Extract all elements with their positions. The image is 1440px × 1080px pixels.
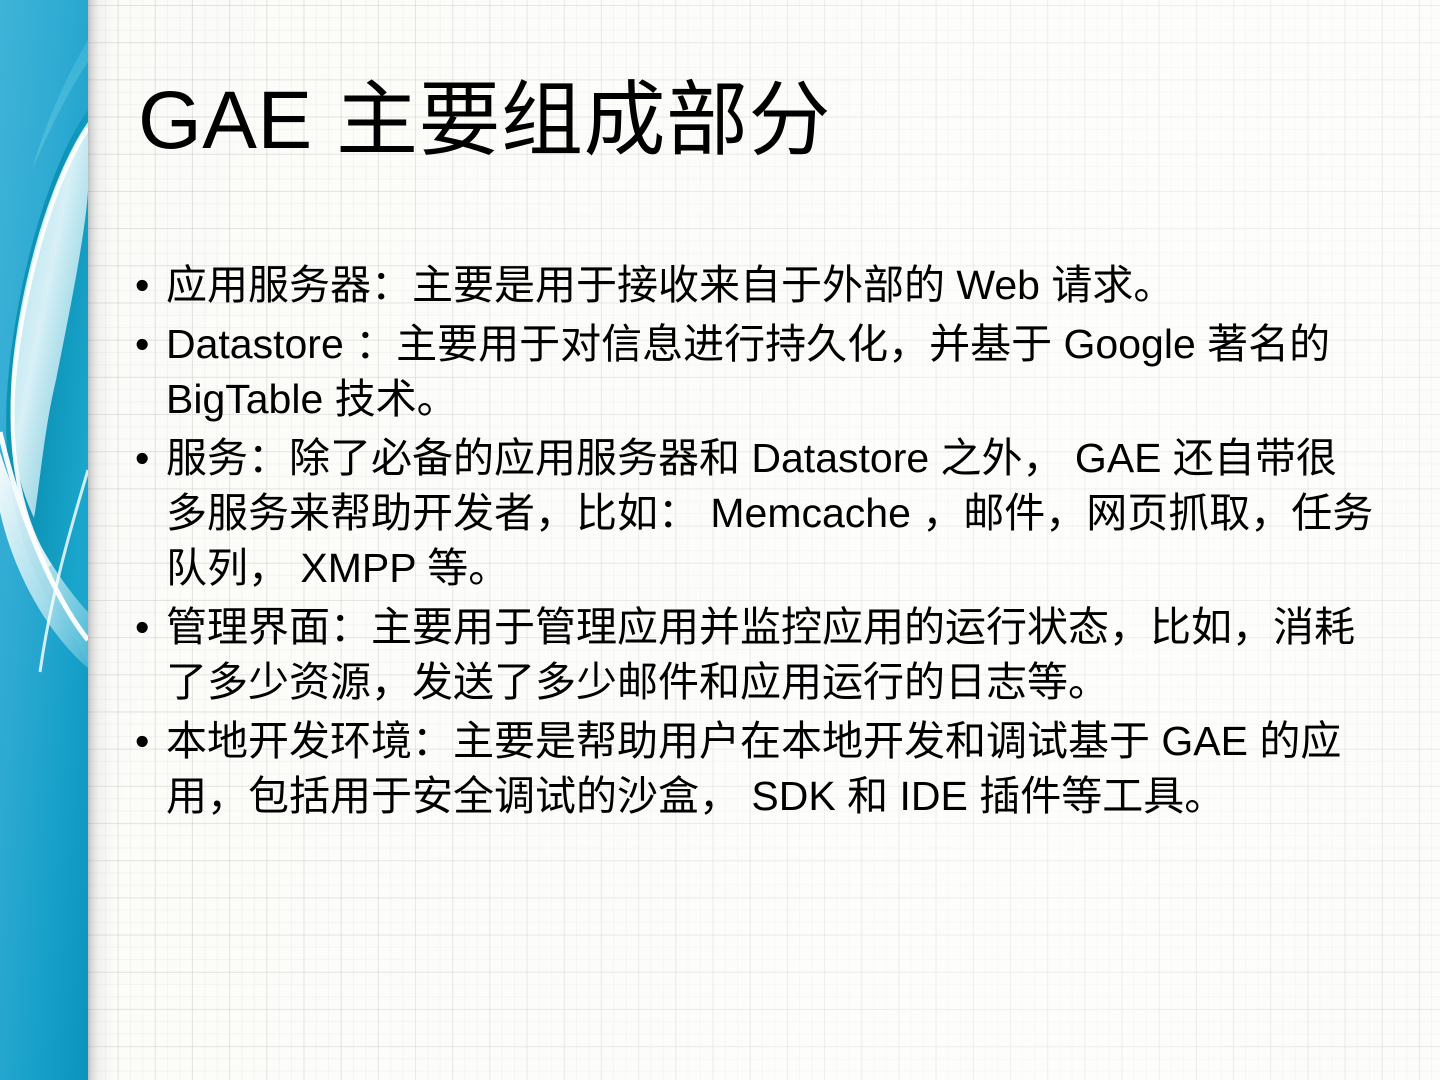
bullet-text: 管理界面：主要用于管理应用并监控应用的运行状态，比如，消耗了多少资源，发送了多少… [166, 600, 1377, 710]
bullet-item: • 本地开发环境：主要是帮助用户在本地开发和调试基于 GAE 的应用，包括用于安… [132, 714, 1377, 824]
bullet-text: Datastore ：主要用于对信息进行持久化，并基于 Google 著名的 B… [166, 317, 1377, 427]
bullet-marker-icon: • [132, 600, 166, 655]
presentation-slide: GAE 主要组成部分 • 应用服务器：主要是用于接收来自于外部的 Web 请求。… [0, 0, 1440, 1080]
bullet-item: • 应用服务器：主要是用于接收来自于外部的 Web 请求。 [132, 258, 1377, 313]
bullet-marker-icon: • [132, 317, 166, 372]
bullet-marker-icon: • [132, 714, 166, 769]
bullet-text: 应用服务器：主要是用于接收来自于外部的 Web 请求。 [166, 258, 1377, 313]
bullet-text: 本地开发环境：主要是帮助用户在本地开发和调试基于 GAE 的应用，包括用于安全调… [166, 714, 1377, 824]
swoosh-decoration-icon [0, 0, 88, 1080]
side-decoration-band [0, 0, 88, 1080]
bullet-item: • 管理界面：主要用于管理应用并监控应用的运行状态，比如，消耗了多少资源，发送了… [132, 600, 1377, 710]
bullet-marker-icon: • [132, 431, 166, 486]
slide-title: GAE 主要组成部分 [138, 78, 1368, 165]
bullet-item: • Datastore ：主要用于对信息进行持久化，并基于 Google 著名的… [132, 317, 1377, 427]
bullet-item: • 服务：除了必备的应用服务器和 Datastore 之外， GAE 还自带很多… [132, 431, 1377, 596]
bullet-marker-icon: • [132, 258, 166, 313]
slide-body-bullet-list: • 应用服务器：主要是用于接收来自于外部的 Web 请求。 • Datastor… [132, 258, 1377, 828]
bullet-text: 服务：除了必备的应用服务器和 Datastore 之外， GAE 还自带很多服务… [166, 431, 1377, 596]
